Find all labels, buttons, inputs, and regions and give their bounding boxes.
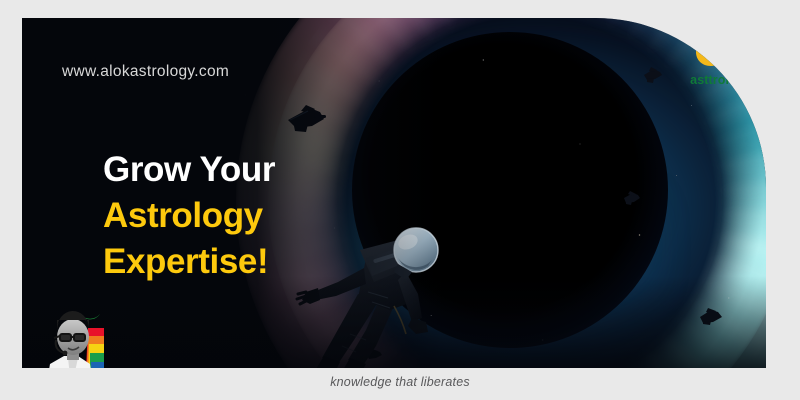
brand-logo[interactable]: asttrolok bbox=[678, 26, 756, 87]
spaceship-icon bbox=[622, 190, 642, 206]
headline: Grow Your Astrology Expertise! bbox=[103, 147, 275, 285]
headline-line-3: Expertise! bbox=[103, 239, 275, 285]
website-url: www.alokastrology.com bbox=[62, 63, 229, 81]
bottom-dark-gradient bbox=[22, 276, 766, 368]
logo-wordmark: asttrolok bbox=[678, 73, 756, 87]
avatar bbox=[44, 306, 112, 368]
headline-line-1: Grow Your bbox=[103, 147, 275, 193]
spaceship-icon bbox=[642, 66, 664, 84]
asttrolok-mark-icon bbox=[689, 26, 745, 72]
headline-line-2: Astrology bbox=[103, 193, 275, 239]
promo-banner: www.alokastrology.com Grow Your Astrolog… bbox=[22, 18, 766, 368]
tagline: knowledge that liberates bbox=[0, 375, 800, 389]
